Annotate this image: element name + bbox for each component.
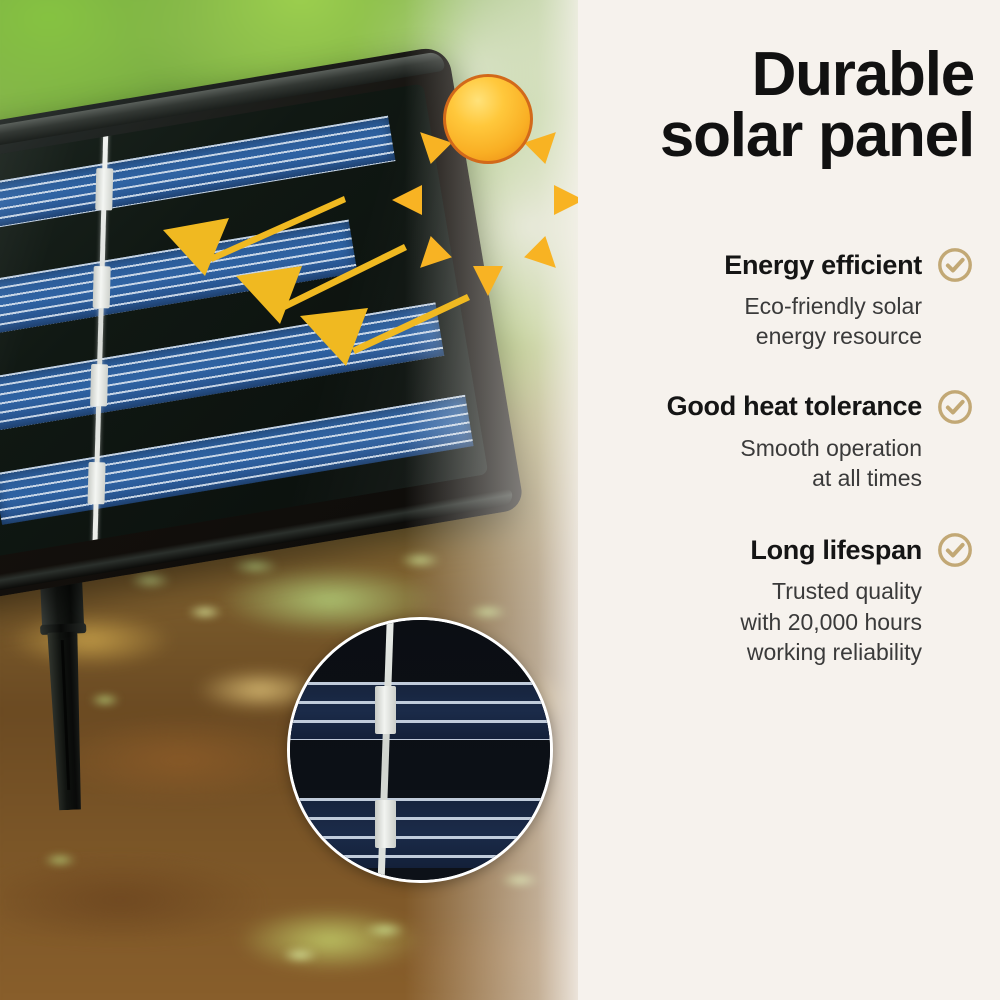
feature-description: Trusted quality with 20,000 hours workin…: [582, 576, 974, 667]
sun-icon: [392, 23, 578, 215]
feature-title: Good heat tolerance: [667, 391, 922, 422]
feature-title: Long lifespan: [750, 535, 922, 566]
circle-check-icon: [936, 246, 974, 284]
feature-description: Smooth operation at all times: [582, 433, 974, 494]
sun-ray: [473, 266, 503, 296]
feature-heading: Long lifespan: [582, 531, 974, 569]
feature-panel: Durable solar panel Energy efficient Eco…: [578, 0, 1000, 1000]
title-line-1: Durable: [584, 44, 974, 105]
circle-check-icon: [936, 531, 974, 569]
feature-title: Energy efficient: [724, 250, 922, 281]
title-line-2: solar panel: [584, 105, 974, 166]
feature-desc-line: at all times: [582, 463, 922, 493]
feature-item-energy-efficient: Energy efficient Eco-friendly solar ener…: [582, 246, 974, 352]
feature-desc-line: with 20,000 hours: [582, 607, 922, 637]
feature-desc-line: energy resource: [582, 321, 922, 351]
sun-ray: [554, 185, 578, 215]
feature-desc-line: Trusted quality: [582, 576, 922, 606]
feature-desc-line: working reliability: [582, 637, 922, 667]
feature-heading: Good heat tolerance: [582, 388, 974, 426]
sun-ray: [392, 185, 422, 215]
sun-disc: [443, 74, 533, 164]
feature-description: Eco-friendly solar energy resource: [582, 291, 974, 352]
feature-desc-line: Smooth operation: [582, 433, 922, 463]
circle-check-icon: [936, 388, 974, 426]
feature-list: Energy efficient Eco-friendly solar ener…: [582, 246, 974, 696]
feature-item-good-heat-tolerance: Good heat tolerance Smooth operation at …: [582, 388, 974, 494]
page-title: Durable solar panel: [584, 44, 974, 167]
feature-heading: Energy efficient: [582, 246, 974, 284]
closeup-busbar-tab: [375, 800, 396, 848]
feature-item-long-lifespan: Long lifespan Trusted quality with 20,00…: [582, 531, 974, 667]
product-feature-graphic: Durable solar panel Energy efficient Eco…: [0, 0, 1000, 1000]
solar-cell-closeup: [287, 617, 553, 883]
product-photo: [0, 0, 578, 1000]
closeup-cell-band: [287, 682, 553, 740]
closeup-cell-band: [287, 798, 553, 868]
closeup-busbar-tab: [375, 686, 396, 734]
feature-desc-line: Eco-friendly solar: [582, 291, 922, 321]
